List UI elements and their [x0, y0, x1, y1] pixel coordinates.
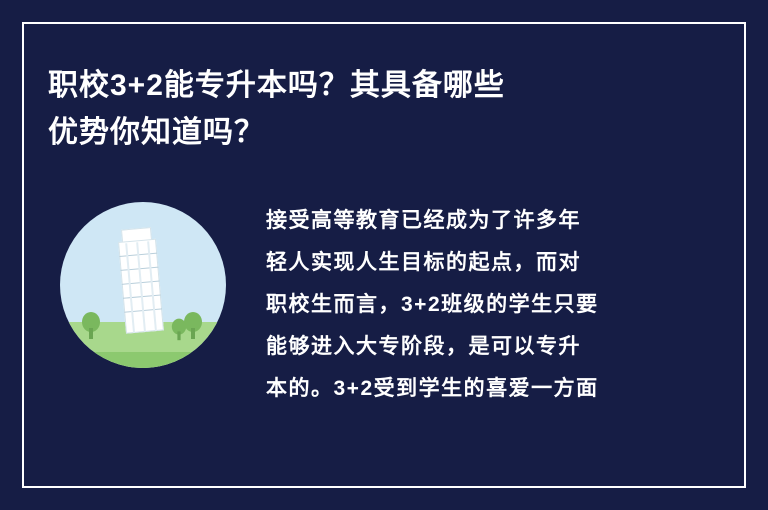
article-line: 本的。3+2受到学生的喜爱一方面 [266, 368, 720, 410]
poster-canvas: 职校3+2能专升本吗？其具备哪些 优势你知道吗？ [0, 0, 768, 510]
article-body: 接受高等教育已经成为了许多年 轻人实现人生目标的起点，而对 职校生而言，3+2班… [266, 196, 720, 410]
article-line: 接受高等教育已经成为了许多年 [266, 200, 720, 242]
tree-icon [184, 312, 202, 338]
grass-shadow-shape [60, 352, 226, 368]
tree-trunk-shape [89, 328, 93, 339]
leaning-tower-illustration [60, 202, 226, 368]
tree-trunk-shape [191, 328, 195, 339]
title-line-1: 职校3+2能专升本吗？其具备哪些 [48, 62, 688, 109]
article-line: 轻人实现人生目标的起点，而对 [266, 242, 720, 284]
article-line: 职校生而言，3+2班级的学生只要 [266, 284, 720, 326]
page-title: 职校3+2能专升本吗？其具备哪些 优势你知道吗？ [48, 62, 688, 156]
article-line: 能够进入大专阶段，是可以专升 [266, 326, 720, 368]
tree-trunk-shape [177, 331, 180, 340]
title-line-2: 优势你知道吗？ [48, 109, 688, 156]
tower-icon [113, 226, 168, 334]
tree-icon [172, 319, 186, 340]
content-area: 接受高等教育已经成为了许多年 轻人实现人生目标的起点，而对 职校生而言，3+2班… [48, 196, 720, 410]
tree-icon [82, 312, 100, 338]
